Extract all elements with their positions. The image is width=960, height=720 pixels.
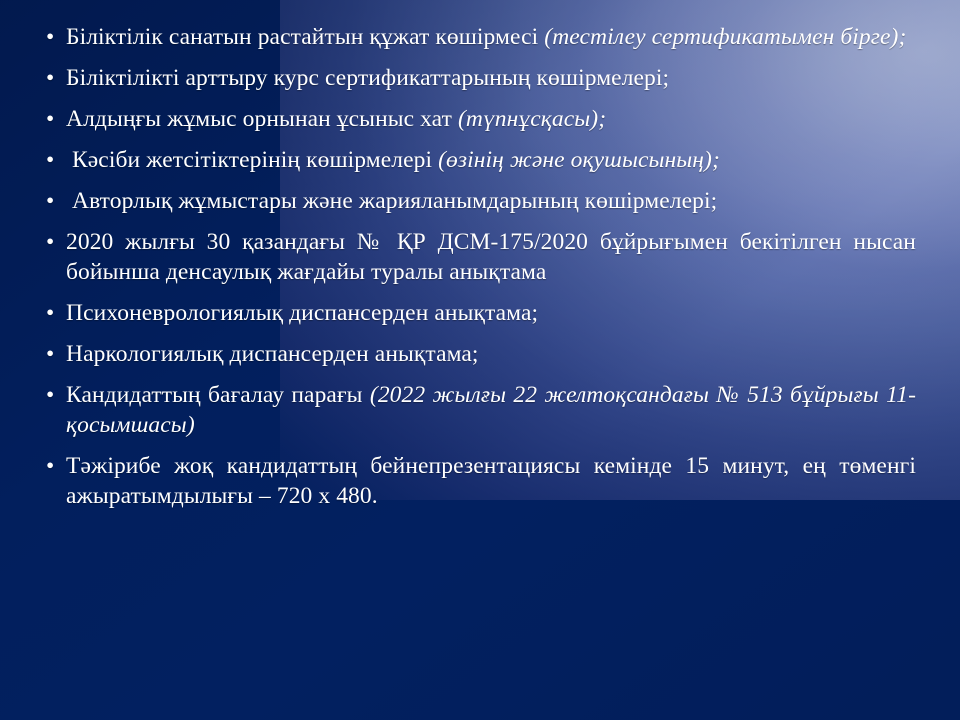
bullet-text: Біліктілікті арттыру курс сертификаттары… — [66, 65, 669, 91]
bullet-text-plain: Біліктілік санатын растайтын құжат көшір… — [66, 24, 544, 50]
bullet-text-plain: Наркологиялық диспансерден анықтама; — [66, 341, 479, 367]
bullet-point-icon: • — [46, 186, 62, 216]
bullet-item: •Біліктілік санатын растайтын құжат көші… — [40, 22, 916, 52]
bullet-text: Алдыңғы жұмыс орнынан ұсыныс хат (түпнұс… — [66, 106, 606, 132]
bullet-text-plain: Кандидаттың бағалау парағы — [66, 382, 370, 408]
bullet-text-plain: Тәжірибе жоқ кандидаттың бейнепрезентаци… — [66, 453, 916, 509]
bullet-text: Наркологиялық диспансерден анықтама; — [66, 341, 479, 367]
bullet-text: 2020 жылғы 30 қазандағы № ҚР ДСМ-175/202… — [66, 229, 916, 285]
bullet-text-plain: Алдыңғы жұмыс орнынан ұсыныс хат — [66, 106, 458, 132]
slide-content-body: •Біліктілік санатын растайтын құжат көші… — [0, 0, 960, 720]
bullet-item: •Психоневрологиялық диспансерден анықтам… — [40, 298, 916, 328]
bullet-text-plain: Кәсіби жетсітіктерінің көшірмелері — [72, 147, 438, 173]
bullet-item: •Наркологиялық диспансерден анықтама; — [40, 339, 916, 369]
presentation-slide: •Біліктілік санатын растайтын құжат көші… — [0, 0, 960, 720]
bullet-text: Кандидаттың бағалау парағы (2022 жылғы 2… — [66, 382, 916, 438]
bullet-item: •Біліктілікті арттыру курс сертификаттар… — [40, 63, 916, 93]
bullet-point-icon: • — [46, 451, 62, 481]
bullet-point-icon: • — [46, 145, 62, 175]
bullet-item: •2020 жылғы 30 қазандағы № ҚР ДСМ-175/20… — [40, 227, 916, 287]
bullet-point-icon: • — [46, 339, 62, 369]
bullet-item: • Авторлық жұмыстары және жарияланымдары… — [40, 186, 916, 216]
bullet-list: •Біліктілік санатын растайтын құжат көші… — [0, 0, 960, 511]
bullet-text: Психоневрологиялық диспансерден анықтама… — [66, 300, 538, 326]
bullet-point-icon: • — [46, 104, 62, 134]
bullet-text: Тәжірибе жоқ кандидаттың бейнепрезентаци… — [66, 453, 916, 509]
bullet-point-icon: • — [46, 63, 62, 93]
bullet-point-icon: • — [46, 380, 62, 410]
bullet-text-plain: Авторлық жұмыстары және жарияланымдарыны… — [72, 188, 717, 214]
bullet-item: •Алдыңғы жұмыс орнынан ұсыныс хат (түпнұ… — [40, 104, 916, 134]
bullet-text-plain: 2020 жылғы 30 қазандағы № ҚР ДСМ-175/202… — [66, 229, 916, 285]
bullet-point-icon: • — [46, 227, 62, 257]
bullet-item: •Тәжірибе жоқ кандидаттың бейнепрезентац… — [40, 451, 916, 511]
bullet-item: •Кандидаттың бағалау парағы (2022 жылғы … — [40, 380, 916, 440]
bullet-text: Авторлық жұмыстары және жарияланымдарыны… — [66, 188, 717, 214]
bullet-text-italic: (тестілеу сертификатымен бірге); — [544, 24, 906, 50]
bullet-text: Біліктілік санатын растайтын құжат көшір… — [66, 24, 906, 50]
bullet-text: Кәсіби жетсітіктерінің көшірмелері (өзін… — [66, 147, 720, 173]
bullet-text-italic: (түпнұсқасы); — [458, 106, 606, 132]
bullet-text-plain: Біліктілікті арттыру курс сертификаттары… — [66, 65, 669, 91]
bullet-text-italic: (өзінің және оқушысының); — [438, 147, 720, 173]
bullet-point-icon: • — [46, 298, 62, 328]
bullet-point-icon: • — [46, 22, 62, 52]
bullet-item: • Кәсіби жетсітіктерінің көшірмелері (өз… — [40, 145, 916, 175]
bullet-text-plain: Психоневрологиялық диспансерден анықтама… — [66, 300, 538, 326]
